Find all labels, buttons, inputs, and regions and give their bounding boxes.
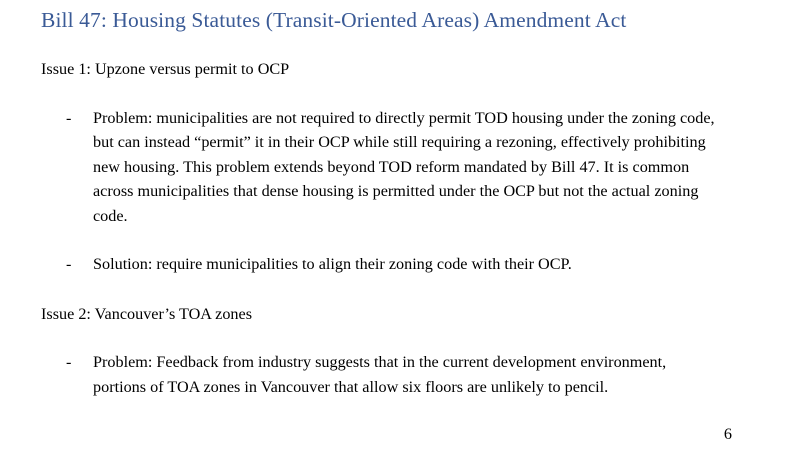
section-heading-issue-2: Issue 2: Vancouver’s TOA zones bbox=[41, 302, 790, 327]
section-heading-issue-1: Issue 1: Upzone versus permit to OCP bbox=[41, 57, 790, 82]
bullet-list-issue-2: - Problem: Feedback from industry sugges… bbox=[0, 350, 790, 399]
spacer bbox=[0, 326, 790, 350]
list-item-text: Problem: municipalities are not required… bbox=[93, 106, 717, 229]
list-item: - Problem: Feedback from industry sugges… bbox=[41, 350, 790, 399]
bullet-dash-icon: - bbox=[66, 106, 78, 131]
spacer bbox=[0, 82, 790, 106]
slide-canvas: Bill 47: Housing Statutes (Transit-Orien… bbox=[0, 0, 790, 472]
list-item-text: Solution: require municipalities to alig… bbox=[93, 252, 717, 277]
bullet-dash-icon: - bbox=[66, 252, 78, 277]
page-number: 6 bbox=[724, 424, 732, 444]
slide-body: Issue 1: Upzone versus permit to OCP - P… bbox=[0, 57, 790, 399]
spacer bbox=[0, 277, 790, 302]
list-item: - Solution: require municipalities to al… bbox=[41, 252, 790, 277]
bullet-list-issue-1: - Problem: municipalities are not requir… bbox=[0, 106, 790, 277]
list-item: - Problem: municipalities are not requir… bbox=[41, 106, 790, 229]
slide-title: Bill 47: Housing Statutes (Transit-Orien… bbox=[41, 6, 741, 34]
bullet-dash-icon: - bbox=[66, 350, 78, 375]
list-item-text: Problem: Feedback from industry suggests… bbox=[93, 350, 717, 399]
